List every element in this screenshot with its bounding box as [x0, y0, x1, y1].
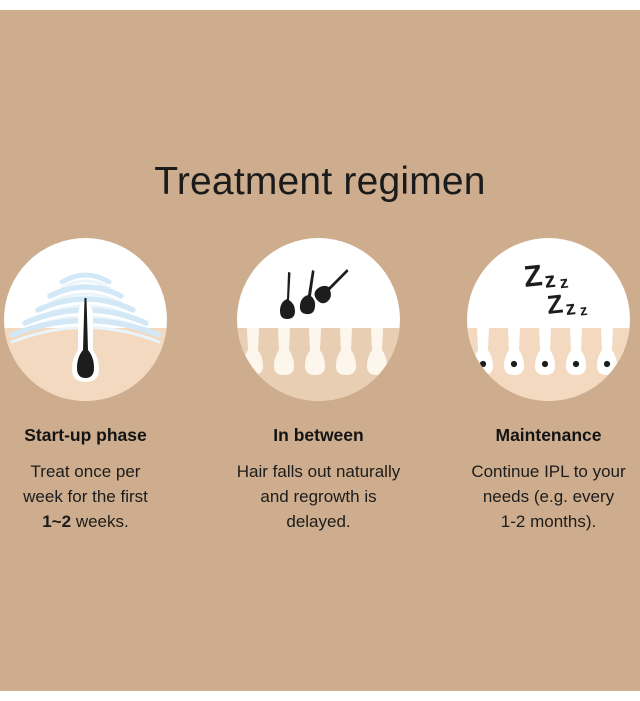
step-maintenance: Z z z Z z z: [442, 228, 640, 534]
step-3-body-line-1: Continue IPL to your: [442, 459, 640, 484]
circle-start-up-phase: [4, 238, 167, 401]
treatment-regimen-poster: Treatment regimen: [0, 0, 640, 701]
dormant-follicles-zzz-icon: Z z z Z z z: [467, 238, 630, 401]
step-3-body-line-2: needs (e.g. every: [442, 484, 640, 509]
circle-in-between: [237, 238, 400, 401]
step-start-up-phase: Start-up phase Treat once per week for t…: [0, 228, 192, 534]
svg-text:z: z: [579, 302, 588, 320]
step-3-body: Continue IPL to your needs (e.g. every 1…: [442, 459, 640, 534]
svg-text:Z: Z: [545, 288, 564, 320]
svg-text:z: z: [564, 297, 576, 320]
ipl-light-pulse-on-follicle-icon: [4, 238, 167, 401]
step-in-between: In between Hair falls out naturally and …: [212, 228, 425, 534]
step-1-body: Treat once per week for the first 1~2 we…: [0, 459, 192, 534]
step-1-weeks-suffix: weeks.: [71, 512, 129, 531]
step-2-body-line-2: and regrowth is: [212, 484, 425, 509]
falling-hairs-icon: [237, 238, 400, 401]
step-1-heading: Start-up phase: [0, 425, 192, 446]
step-1-illustration: [4, 238, 167, 401]
svg-text:Z: Z: [522, 259, 544, 294]
step-2-illustration: [237, 238, 400, 401]
falling-hairs: [280, 269, 349, 319]
step-1-body-line-1: Treat once per: [0, 459, 192, 484]
sleep-zzz-text: Z z z Z z z: [522, 257, 588, 323]
step-1-weeks-value: 1~2: [42, 512, 71, 531]
step-3-illustration: Z z z Z z z: [467, 238, 630, 401]
step-1-body-line-3: 1~2 weeks.: [0, 509, 192, 534]
poster-panel: Treatment regimen: [0, 10, 640, 691]
step-2-body-line-3: delayed.: [212, 509, 425, 534]
steps-row: Start-up phase Treat once per week for t…: [0, 228, 640, 588]
step-1-body-line-2: week for the first: [0, 484, 192, 509]
step-3-heading: Maintenance: [442, 425, 640, 446]
circle-maintenance: Z z z Z z z: [467, 238, 630, 401]
step-3-body-line-3: 1-2 months).: [442, 509, 640, 534]
step-2-body-line-1: Hair falls out naturally: [212, 459, 425, 484]
step-2-heading: In between: [212, 425, 425, 446]
page-title: Treatment regimen: [0, 160, 640, 204]
step-2-body: Hair falls out naturally and regrowth is…: [212, 459, 425, 534]
